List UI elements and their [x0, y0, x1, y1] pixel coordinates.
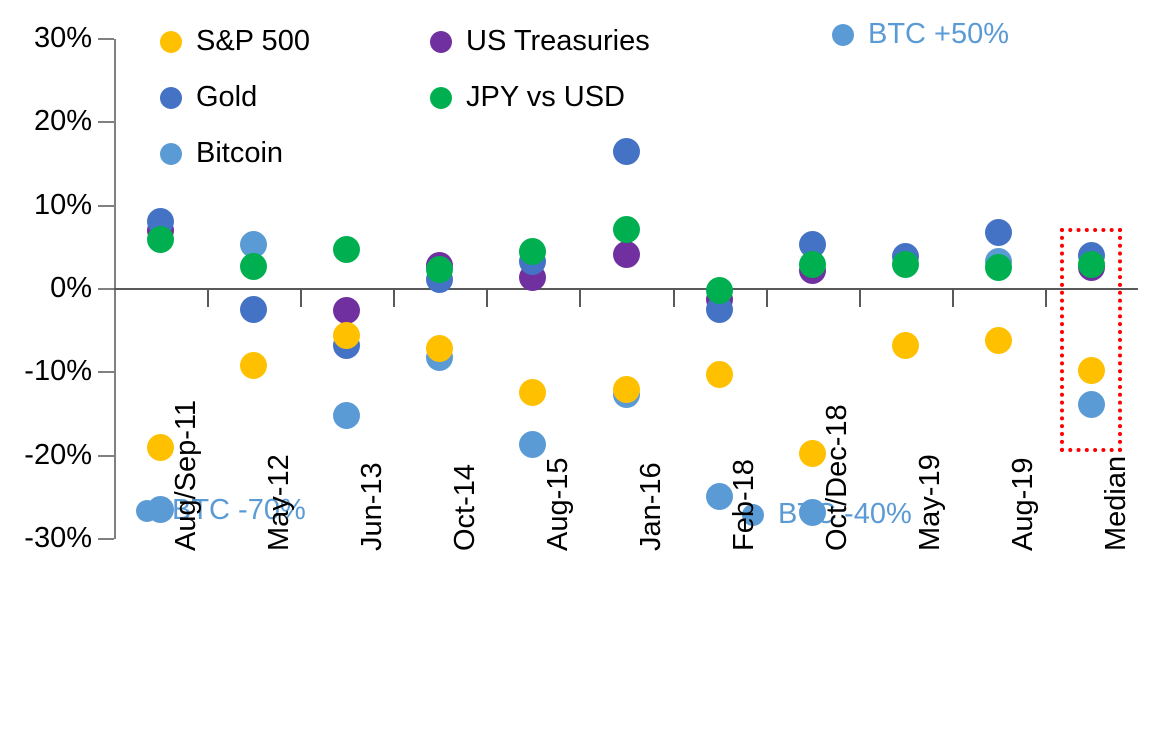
legend-item-label: JPY vs USD [466, 83, 625, 112]
x-axis-label: Median [1102, 456, 1131, 551]
legend-item-label: Gold [196, 83, 257, 112]
data-point-marker [613, 241, 640, 268]
legend-item-s-p-500[interactable]: S&P 500 [160, 27, 310, 56]
data-point-marker [706, 361, 733, 388]
legend-swatch-icon [160, 143, 182, 165]
data-point-marker [426, 256, 453, 283]
y-tick-label: -10% [24, 357, 92, 386]
data-point-marker [613, 138, 640, 165]
data-point-marker [333, 297, 360, 324]
legend-item-us-treasuries[interactable]: US Treasuries [430, 27, 650, 56]
legend-swatch-icon [430, 31, 452, 53]
data-point-marker [240, 352, 267, 379]
y-tick-label: -30% [24, 524, 92, 553]
x-tick-mark [393, 289, 395, 307]
x-axis-label: Aug/Sep-11 [172, 400, 201, 551]
y-tick-mark [98, 205, 114, 207]
data-point-marker [333, 402, 360, 429]
data-point-marker [985, 254, 1012, 281]
legend-item-label: S&P 500 [196, 27, 310, 56]
data-point-marker [799, 251, 826, 278]
y-tick-label: 10% [34, 191, 92, 220]
y-tick-mark [98, 38, 114, 40]
data-point-marker [333, 236, 360, 263]
data-point-marker [147, 226, 174, 253]
data-point-marker [892, 251, 919, 278]
y-tick-mark [98, 288, 114, 290]
x-tick-mark [486, 289, 488, 307]
y-tick-label: -20% [24, 441, 92, 470]
y-tick-mark [98, 538, 114, 540]
data-point-marker [519, 431, 546, 458]
bitcoin-marker-icon [832, 24, 854, 46]
x-axis-label: Aug-19 [1009, 457, 1038, 551]
y-tick-label: 20% [34, 107, 92, 136]
x-tick-mark [952, 289, 954, 307]
scatter-chart: S&P 500GoldBitcoinUS TreasuriesJPY vs US… [0, 0, 1151, 739]
data-point-marker [240, 296, 267, 323]
median-highlight-box [1060, 228, 1122, 452]
x-axis-label: Jun-13 [358, 462, 387, 551]
x-tick-mark [579, 289, 581, 307]
data-point-marker [985, 327, 1012, 354]
legend-swatch-icon [430, 87, 452, 109]
x-axis-label: Aug-15 [544, 457, 573, 551]
x-axis-label: Oct-14 [451, 464, 480, 551]
y-tick-label: 0% [50, 274, 92, 303]
y-tick-mark [98, 455, 114, 457]
legend-item-label: US Treasuries [466, 27, 650, 56]
x-tick-mark [207, 289, 209, 307]
x-tick-mark [1045, 289, 1047, 307]
data-point-marker [892, 332, 919, 359]
data-point-marker [240, 253, 267, 280]
data-point-marker [985, 219, 1012, 246]
legend-swatch-icon [160, 87, 182, 109]
x-axis-label: Jan-16 [637, 462, 666, 551]
data-point-marker [426, 335, 453, 362]
legend-swatch-icon [160, 31, 182, 53]
data-point-marker [613, 216, 640, 243]
annotation-btc-plus-50-label: BTC +50% [868, 20, 1009, 49]
x-axis-label: Oct/Dec-18 [823, 404, 852, 551]
y-tick-mark [98, 121, 114, 123]
x-axis-label: Feb-18 [730, 459, 759, 551]
x-axis-label: May-19 [916, 454, 945, 551]
legend-item-bitcoin[interactable]: Bitcoin [160, 139, 283, 168]
y-tick-label: 30% [34, 24, 92, 53]
zero-axis-line [114, 288, 1138, 290]
legend-item-label: Bitcoin [196, 139, 283, 168]
legend-item-gold[interactable]: Gold [160, 83, 257, 112]
data-point-marker [613, 376, 640, 403]
x-tick-mark [673, 289, 675, 307]
data-point-marker [706, 277, 733, 304]
x-tick-mark [859, 289, 861, 307]
x-axis-label: May-12 [265, 454, 294, 551]
legend-item-jpy-vs-usd[interactable]: JPY vs USD [430, 83, 625, 112]
x-tick-mark [300, 289, 302, 307]
x-tick-mark [766, 289, 768, 307]
annotation-btc-plus-50: BTC +50% [832, 20, 1009, 49]
data-point-marker [519, 379, 546, 406]
bitcoin-marker-icon [136, 500, 158, 522]
y-tick-mark [98, 371, 114, 373]
